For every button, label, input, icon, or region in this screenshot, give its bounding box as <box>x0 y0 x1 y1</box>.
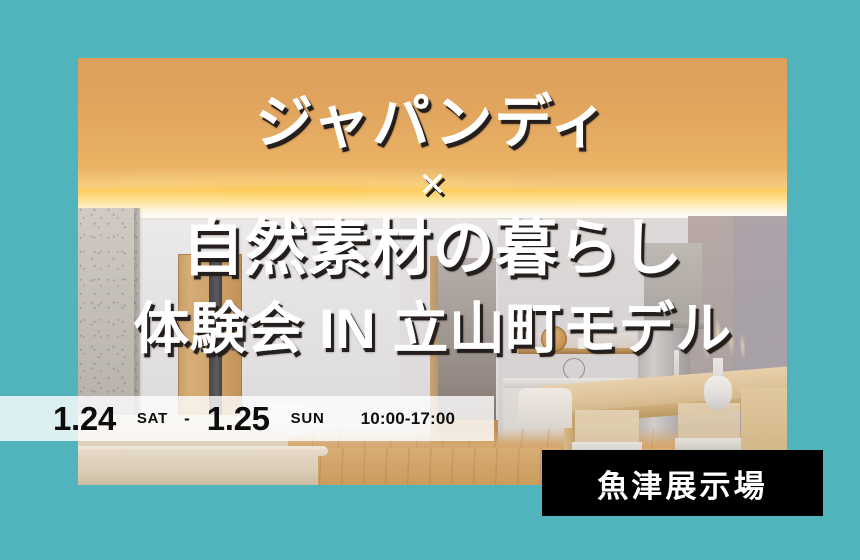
ceramic-vase <box>704 376 732 410</box>
range-hood <box>644 243 702 323</box>
ceiling-downlight <box>525 265 537 269</box>
venue-badge: 魚津展示場 <box>542 450 823 516</box>
date-range-dash: - <box>184 409 190 429</box>
round-basket <box>541 326 567 352</box>
start-date: 1.24 <box>53 402 116 435</box>
end-date: 1.25 <box>207 402 270 435</box>
hanging-ring <box>563 358 585 380</box>
start-day: SAT <box>137 410 168 427</box>
kitchen-shelf-back <box>518 333 636 348</box>
event-hours: 10:00-17:00 <box>361 409 456 429</box>
end-day: SUN <box>291 410 325 427</box>
low-bench <box>78 450 318 485</box>
date-bar: 1.24 SAT - 1.25 SUN 10:00-17:00 <box>0 396 494 441</box>
glassware <box>578 338 585 349</box>
ceiling-downlight <box>572 263 584 267</box>
event-banner: ジャパンディ ✕ 自然素材の暮らし 体験会 IN 立山町モデル 1.24 SAT… <box>0 0 860 560</box>
wall-switch <box>231 338 244 351</box>
kitchen-shelf <box>518 348 636 354</box>
dining-chair-far <box>518 388 572 428</box>
